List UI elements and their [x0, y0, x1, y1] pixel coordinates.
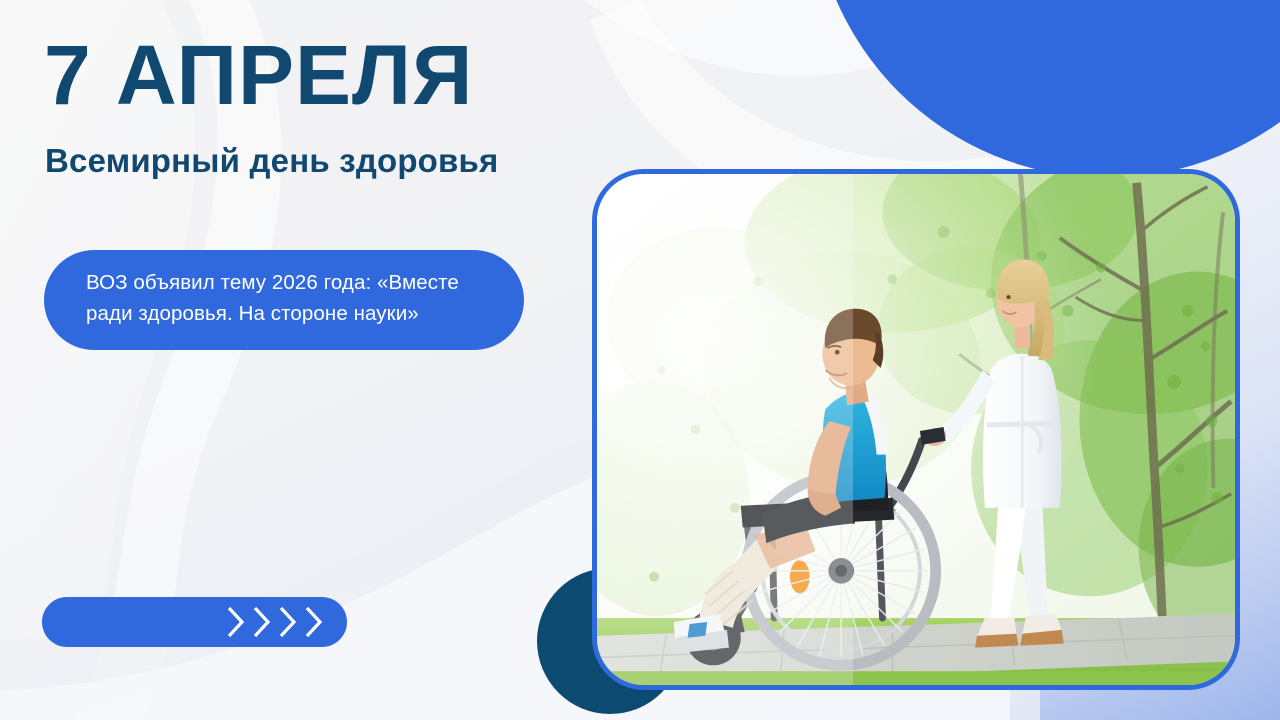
theme-badge-text: ВОЗ объявил тему 2026 года: «Вместе ради… [86, 268, 484, 330]
photo-card [592, 169, 1240, 690]
chevron-bar[interactable] [42, 597, 347, 647]
chevron-right-icon [277, 605, 299, 639]
page-subtitle: Всемирный день здоровья [45, 143, 498, 179]
page-title: 7 АПРЕЛЯ [44, 33, 473, 117]
health-day-poster: 7 АПРЕЛЯ Всемирный день здоровья ВОЗ объ… [0, 0, 1280, 720]
chevron-right-icon [251, 605, 273, 639]
chevron-right-icon [303, 605, 325, 639]
chevron-right-icon [225, 605, 247, 639]
theme-badge: ВОЗ объявил тему 2026 года: «Вместе ради… [44, 250, 524, 350]
wheelchair-park-photo [597, 174, 1235, 685]
